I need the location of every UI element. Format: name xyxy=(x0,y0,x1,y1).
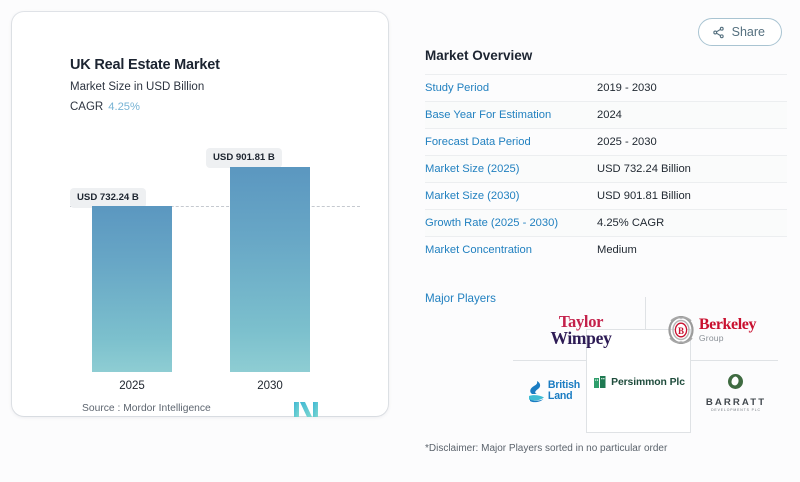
bar-2025[interactable] xyxy=(92,206,172,372)
bar-value-label-2025: USD 732.24 B xyxy=(70,188,146,208)
table-row: Base Year For Estimation2024 xyxy=(425,102,787,129)
major-players-logo-grid: Taylor Wimpey B Berkeley Group xyxy=(513,297,778,433)
table-cell-key: Market Size (2025) xyxy=(425,156,597,183)
table-row: Forecast Data Period2025 - 2030 xyxy=(425,129,787,156)
persimmon-label: Persimmon Plc xyxy=(611,377,685,388)
share-icon xyxy=(712,26,725,39)
table-cell-key: Market Concentration xyxy=(425,237,597,264)
bar-chart-plot: USD 732.24 B USD 901.81 B 2025 2030 xyxy=(70,132,360,372)
market-overview-table: Study Period2019 - 2030Base Year For Est… xyxy=(425,74,787,263)
table-row: Market Size (2025)USD 732.24 Billion xyxy=(425,156,787,183)
table-row: Market ConcentrationMedium xyxy=(425,237,787,264)
bar-2025-fill xyxy=(92,206,172,372)
berkeley-crest-icon: B xyxy=(668,316,694,344)
table-cell-value: 2025 - 2030 xyxy=(597,129,787,156)
chart-title: UK Real Estate Market xyxy=(70,57,220,73)
taylor-wimpey-logo: Taylor Wimpey xyxy=(517,301,645,359)
table-cell-value: Medium xyxy=(597,237,787,264)
table-cell-key: Base Year For Estimation xyxy=(425,102,597,129)
berkeley-group-logo: B Berkeley Group xyxy=(647,301,777,359)
chart-cagr: CAGR 4.25% xyxy=(70,101,140,113)
table-cell-value: 2019 - 2030 xyxy=(597,75,787,102)
major-players-disclaimer: *Disclaimer: Major Players sorted in no … xyxy=(425,443,667,454)
berkeley-line2: Group xyxy=(699,334,756,343)
bar-2030-fill xyxy=(230,167,310,372)
table-row: Study Period2019 - 2030 xyxy=(425,75,787,102)
market-overview-title: Market Overview xyxy=(425,48,787,63)
table-cell-key: Study Period xyxy=(425,75,597,102)
persimmon-plc-logo: Persimmon Plc xyxy=(591,369,687,395)
barratt-tree-icon xyxy=(727,373,744,390)
svg-text:B: B xyxy=(678,326,684,336)
chart-card: UK Real Estate Market Market Size in USD… xyxy=(12,12,388,416)
table-cell-key: Market Size (2030) xyxy=(425,183,597,210)
barratt-line1: BARRATT xyxy=(706,398,766,408)
x-axis-tick-2025: 2025 xyxy=(92,380,172,392)
bar-value-label-2030: USD 901.81 B xyxy=(206,148,282,168)
berkeley-line1: Berkeley xyxy=(699,317,756,333)
market-summary-page: UK Real Estate Market Market Size in USD… xyxy=(0,0,800,482)
chart-subtitle: Market Size in USD Billion xyxy=(70,81,204,93)
chart-source: Source : Mordor Intelligence xyxy=(82,403,211,414)
table-cell-key: Growth Rate (2025 - 2030) xyxy=(425,210,597,237)
cagr-value: 4.25% xyxy=(108,101,140,113)
taylor-wimpey-line2: Wimpey xyxy=(550,330,611,347)
table-cell-value: 4.25% CAGR xyxy=(597,210,787,237)
bar-2030[interactable] xyxy=(230,167,310,372)
cagr-label: CAGR xyxy=(70,101,103,113)
british-land-line2: Land xyxy=(548,391,580,402)
major-players-title: Major Players xyxy=(425,292,496,305)
british-land-swirl-icon xyxy=(528,380,545,403)
x-axis-tick-2030: 2030 xyxy=(230,380,310,392)
market-overview-panel: Market Overview Study Period2019 - 2030B… xyxy=(425,48,787,263)
table-cell-value: USD 901.81 Billion xyxy=(597,183,787,210)
barratt-line2: DEVELOPMENTS PLC xyxy=(706,409,766,413)
table-cell-value: 2024 xyxy=(597,102,787,129)
table-row: Growth Rate (2025 - 2030)4.25% CAGR xyxy=(425,210,787,237)
british-land-logo: British Land xyxy=(519,365,589,417)
barratt-developments-logo: BARRATT DEVELOPMENTS PLC xyxy=(699,365,773,421)
persimmon-building-icon xyxy=(593,375,607,389)
table-cell-value: USD 732.24 Billion xyxy=(597,156,787,183)
share-button-label: Share xyxy=(732,25,765,39)
share-button[interactable]: Share xyxy=(698,18,782,46)
mordor-intelligence-logo xyxy=(293,401,319,418)
table-cell-key: Forecast Data Period xyxy=(425,129,597,156)
table-row: Market Size (2030)USD 901.81 Billion xyxy=(425,183,787,210)
